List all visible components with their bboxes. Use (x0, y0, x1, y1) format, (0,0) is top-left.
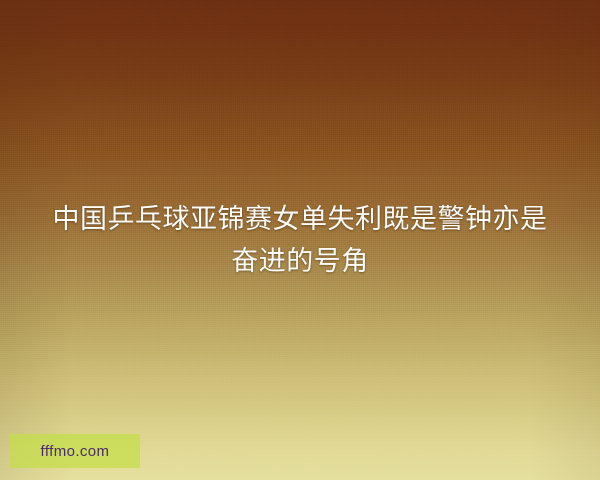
image-canvas: 中国乒乓球亚锦赛女单失利既是警钟亦是 奋进的号角 fffmo.com (0, 0, 600, 480)
watermark-badge: fffmo.com (10, 434, 140, 468)
headline-text: 中国乒乓球亚锦赛女单失利既是警钟亦是 奋进的号角 (0, 198, 600, 282)
watermark-label: fffmo.com (41, 443, 110, 460)
